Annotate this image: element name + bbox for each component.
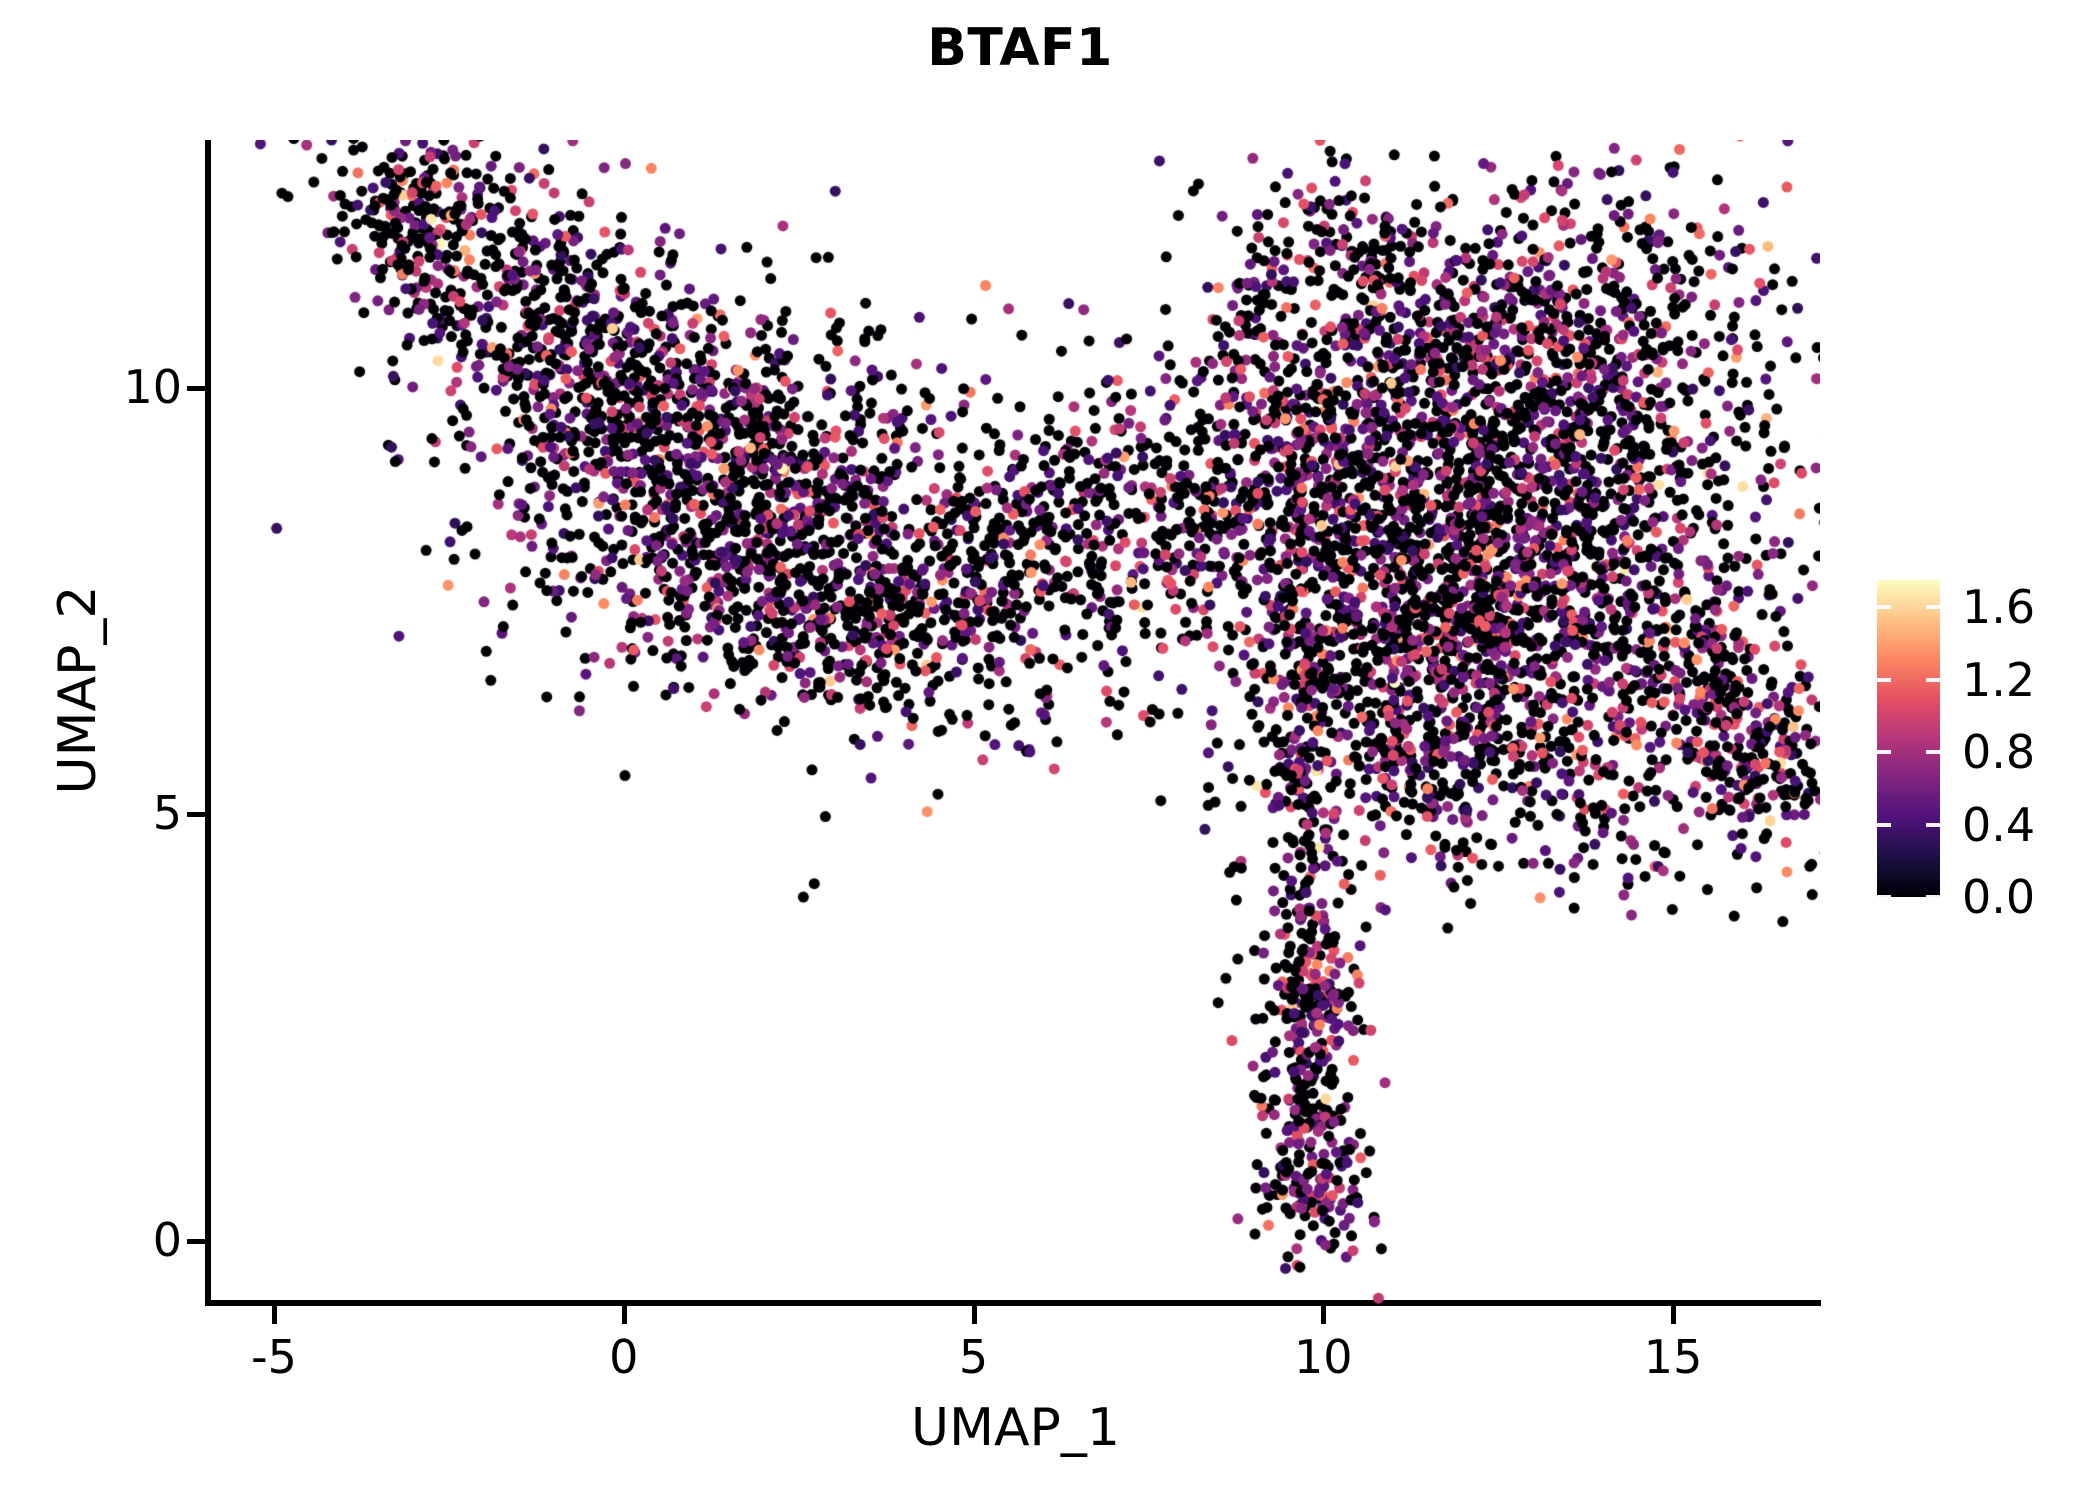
x-tick-label: 10 (1243, 1330, 1403, 1384)
umap-scatter-canvas (211, 140, 1820, 1305)
x-axis-label: UMAP_1 (211, 1398, 1820, 1458)
x-tick-label: 15 (1593, 1330, 1753, 1384)
colorbar-tick-mark (1877, 678, 1891, 682)
x-tick-mark (622, 1306, 627, 1324)
colorbar-tick-mark (1926, 895, 1940, 899)
colorbar-tick-mark (1877, 895, 1891, 899)
x-tick-mark (1321, 1306, 1326, 1324)
colorbar-tick-label: 0.8 (1962, 725, 2035, 779)
colorbar-tick-mark (1926, 678, 1940, 682)
x-tick-label: -5 (194, 1330, 354, 1384)
colorbar-tick-label: 0.0 (1962, 870, 2035, 924)
chart-page: BTAF1 0510-5051015 UMAP_1 UMAP_2 1.61.20… (0, 0, 2100, 1500)
x-tick-mark (972, 1306, 977, 1324)
colorbar-tick-label: 1.2 (1962, 653, 2035, 707)
colorbar (1877, 580, 1940, 897)
y-axis-label: UMAP_2 (48, 340, 108, 1040)
x-tick-mark (1671, 1306, 1676, 1324)
x-tick-label: 5 (894, 1330, 1054, 1384)
colorbar-tick-label: 0.4 (1962, 798, 2035, 852)
y-tick-mark (187, 812, 205, 817)
y-tick-mark (187, 386, 205, 391)
page-title: BTAF1 (0, 20, 2040, 77)
y-tick-label: 0 (42, 1213, 182, 1267)
plot-area (211, 140, 1820, 1305)
colorbar-tick-mark (1926, 750, 1940, 754)
colorbar-tick-mark (1877, 823, 1891, 827)
colorbar-tick-mark (1877, 750, 1891, 754)
y-tick-mark (187, 1239, 205, 1244)
x-tick-mark (272, 1306, 277, 1324)
colorbar-tick-mark (1926, 823, 1940, 827)
colorbar-tick-mark (1926, 605, 1940, 609)
x-tick-label: 0 (544, 1330, 704, 1384)
colorbar-tick-label: 1.6 (1962, 580, 2035, 634)
colorbar-gradient (1877, 580, 1940, 897)
colorbar-tick-mark (1877, 605, 1891, 609)
